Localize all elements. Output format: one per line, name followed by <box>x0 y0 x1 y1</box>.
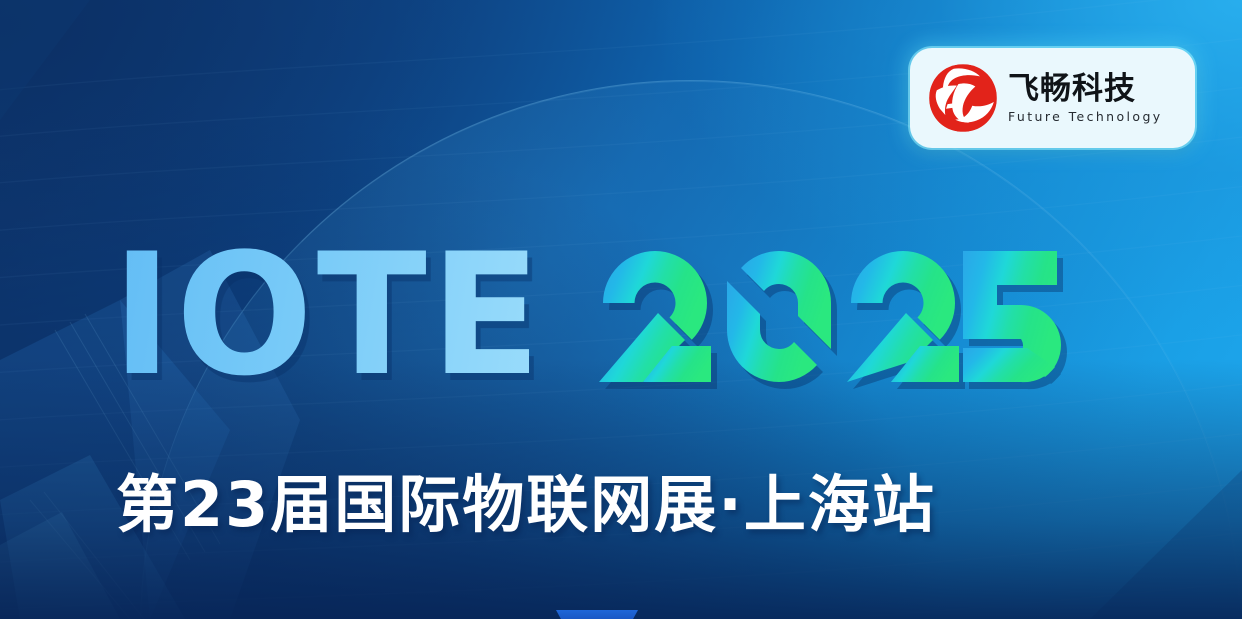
event-title-year <box>597 249 1067 389</box>
company-name-cn: 飞畅科技 <box>1008 72 1163 106</box>
event-subtitle: 第23届国际物联网展·上海站 <box>116 454 936 544</box>
bottom-accent-bar <box>556 610 638 619</box>
iote-2025-banner: 飞畅科技 Future Technology IOTE <box>0 0 1242 619</box>
sponsor-logo-card[interactable]: 飞畅科技 Future Technology <box>910 48 1195 148</box>
event-title-iote: IOTE <box>112 243 545 387</box>
fc-red-circle-emblem-icon <box>924 61 1002 135</box>
event-title-row: IOTE <box>112 243 1067 388</box>
company-name-en: Future Technology <box>1008 109 1163 124</box>
sponsor-logo-text: 飞畅科技 Future Technology <box>1008 72 1163 124</box>
